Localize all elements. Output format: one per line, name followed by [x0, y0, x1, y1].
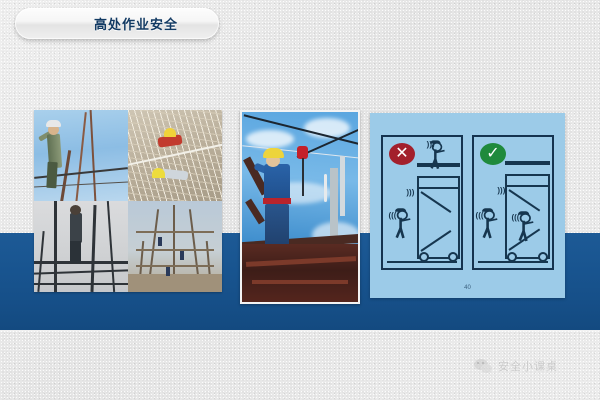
fall-protection-photo: [240, 110, 360, 304]
watermark: 安全小课桌: [474, 358, 558, 374]
page-title: 高处作业安全: [56, 14, 178, 33]
collage-cell-rebar-balance: [34, 110, 128, 201]
slide-title-pill: 高处作业安全: [15, 8, 219, 39]
blue-band-edge: [0, 330, 600, 332]
diagram-panel-correct: ✓ ((( ((( ): [472, 135, 554, 270]
diagram-panel-wrong: ✕ ))): [381, 135, 463, 270]
scaffold-safety-diagram: ✕ ))): [370, 113, 565, 298]
yellow-hardhat: [263, 148, 284, 158]
green-check-mark: ✓: [480, 143, 506, 165]
watermark-text: 安全小课桌: [498, 358, 558, 374]
collage-cell-scaffold-worker: [34, 201, 128, 292]
wechat-icon: [474, 359, 493, 374]
red-cross-mark: ✕: [389, 143, 415, 165]
slide-canvas: 高处作业安全: [0, 0, 600, 400]
collage-cell-scaffold-tower: [128, 201, 222, 292]
collage-cell-rebar-mesh: [128, 110, 222, 201]
diagram-page-number: 40: [370, 285, 565, 291]
construction-collage-image: [34, 110, 222, 292]
